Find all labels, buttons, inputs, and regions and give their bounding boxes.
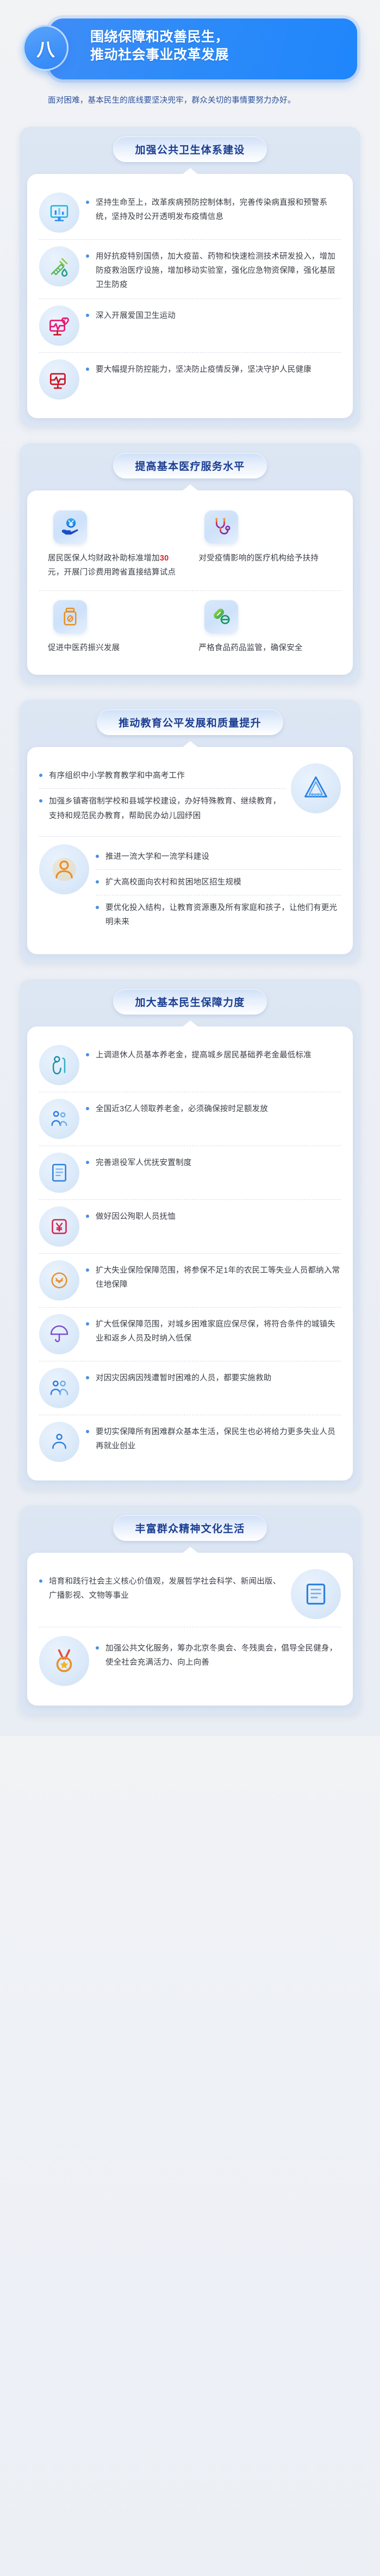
text-before: 要切实保障所有困难群众基本生活，保民生也必将给力更多失业人员再就业创业 bbox=[96, 1428, 335, 1451]
grid-cell-text: 促进中医药振兴发展 bbox=[46, 641, 184, 655]
list-item-text: 上调退休人员基本养老金，提高城乡居民基础养老金最低标准 bbox=[96, 1048, 341, 1062]
list-item-text: 加强乡镇寄宿制学校和县城学校建设，办好特殊教育、继续教育，支持和规范民办教育，帮… bbox=[49, 794, 285, 823]
list-item-body: 上调退休人员基本养老金，提高城乡居民基础养老金最低标准 bbox=[86, 1045, 341, 1062]
section-education: 推动教育公平发展和质量提升 有序组织中小学教育教学和中高考工作 加强乡镇寄宿制学… bbox=[20, 700, 360, 963]
yuan-shield-icon bbox=[39, 1206, 79, 1247]
infographic-page: 八 围绕保障和改善民生， 推动社会事业改革发展 面对困难，基本民生的底线要坚决兜… bbox=[0, 0, 380, 1736]
grid-cell: 严格食品药品监管，确保安全 bbox=[190, 592, 341, 663]
list-item: 有序组织中小学教育教学和中高考工作 bbox=[39, 763, 285, 788]
section-card: 有序组织中小学教育教学和中高考工作 加强乡镇寄宿制学校和县城学校建设，办好特殊教… bbox=[27, 747, 353, 954]
health-heartbeat-icon bbox=[39, 306, 79, 346]
student-person-icon bbox=[39, 844, 89, 894]
syringe-vaccine-icon bbox=[39, 246, 79, 287]
grid-cell: 对受疫情影响的医疗机构给予扶持 bbox=[190, 502, 341, 587]
list-item: 对因灾因病因残遭暂时困难的人员，都要实施救助 bbox=[39, 1361, 341, 1415]
bullet-dot bbox=[86, 254, 89, 258]
list-item: 要大幅提升防控能力，坚决防止疫情反弹，坚决守护人民健康 bbox=[39, 352, 341, 406]
list-item-text: 完善退役军人优抚安置制度 bbox=[96, 1156, 341, 1170]
grid-cell: 居民医保人均财政补助标准增加30元，开展门诊费用跨省直接结算试点 bbox=[39, 502, 190, 587]
low-income-icon bbox=[39, 1260, 79, 1301]
bullet-dot bbox=[86, 201, 89, 204]
list-item-body: 做好因公殉职人员抚恤 bbox=[86, 1206, 341, 1224]
bullet-dot bbox=[39, 799, 42, 802]
list-item-body: 扩大失业保险保障范围，将参保不足1年的农民工等失业人员都纳入常住地保障 bbox=[86, 1260, 341, 1292]
list-item-text: 对因灾因病因残遭暂时困难的人员，都要实施救助 bbox=[96, 1371, 341, 1385]
bullet-dot bbox=[96, 855, 99, 858]
elderly-care-icon bbox=[39, 1045, 79, 1085]
text-before: 做好因公殉职人员抚恤 bbox=[96, 1212, 176, 1221]
culture-group-2-bullets: 加强公共文化服务，筹办北京冬奥会、冬残奥会，倡导全民健身，使全社会充满活力、向上… bbox=[96, 1636, 341, 1675]
text-before: 对受疫情影响的医疗机构给予扶持 bbox=[199, 554, 319, 563]
pension-people-icon bbox=[39, 1099, 79, 1139]
list-item-text: 加强公共文化服务，筹办北京冬奥会、冬残奥会，倡导全民健身，使全社会充满活力、向上… bbox=[105, 1641, 341, 1670]
list-item-text: 要大幅提升防控能力，坚决防止疫情反弹，坚决守护人民健康 bbox=[96, 363, 341, 377]
text-before: 严格食品药品监管，确保安全 bbox=[199, 644, 303, 652]
list-item-body: 扩大低保保障范围，对城乡困难家庭应保尽保，将符合条件的城镇失业和返乡人员及时纳入… bbox=[86, 1314, 341, 1346]
bullet-dot bbox=[86, 1322, 89, 1326]
bullet-dot bbox=[86, 1376, 89, 1379]
list-item-text: 做好因公殉职人员抚恤 bbox=[96, 1210, 341, 1224]
list-item-text: 要优化投入结构，让教育资源惠及所有家庭和孩子，让他们有更光明未来 bbox=[105, 901, 341, 929]
stethoscope-icon bbox=[204, 510, 238, 544]
list-item: 培育和践行社会主义核心价值观，发展哲学社会科学、新闻出版、广播影视、文物等事业 bbox=[39, 1569, 285, 1608]
grid-cell: 促进中医药振兴发展 bbox=[39, 592, 190, 663]
bullet-dot bbox=[96, 906, 99, 909]
grid-cell-text: 对受疫情影响的医疗机构给予扶持 bbox=[197, 551, 335, 565]
text-before: 完善退役军人优抚安置制度 bbox=[96, 1159, 191, 1167]
medicine-bottle-herb-icon bbox=[53, 600, 87, 633]
list-item-text: 深入开展爱国卫生运动 bbox=[96, 309, 341, 323]
section-card: 坚持生命至上，改革疾病预防控制体制，完善传染病直报和预警系统，坚持及时公开透明发… bbox=[27, 174, 353, 418]
book-document-icon bbox=[291, 1569, 341, 1619]
list-item: 扩大低保保障范围，对城乡困难家庭应保尽保，将符合条件的城镇失业和返乡人员及时纳入… bbox=[39, 1307, 341, 1361]
intro-paragraph: 面对困难，基本民生的底线要坚决兜牢，群众关切的事情要努力办好。 bbox=[0, 79, 380, 110]
education-group-1: 有序组织中小学教育教学和中高考工作 加强乡镇寄宿制学校和县城学校建设，办好特殊教… bbox=[39, 759, 341, 836]
bullet-dot bbox=[86, 314, 89, 317]
list-item-text: 全国近3亿人领取养老金，必须确保按时足额发放 bbox=[96, 1102, 341, 1116]
culture-group-1-bullets: 培育和践行社会主义核心价值观，发展哲学社会科学、新闻出版、广播影视、文物等事业 bbox=[39, 1569, 285, 1608]
list-item: 扩大高校面向农村和贫困地区招生规模 bbox=[96, 869, 341, 895]
section-card: 上调退休人员基本养老金，提高城乡居民基础养老金最低标准 全国近3亿人领取养老金，… bbox=[27, 1026, 353, 1480]
section-culture: 丰富群众精神文化生活 培育和践行社会主义核心价值观，发展哲学社会科学、新闻出版、… bbox=[20, 1505, 360, 1714]
header-banner: 八 围绕保障和改善民生， 推动社会事业改革发展 bbox=[49, 18, 357, 79]
family-care-icon bbox=[39, 1368, 79, 1408]
text-before: 扩大失业保险保障范围，将参保不足1年的农民工等失业人员都纳入常住地保障 bbox=[96, 1266, 340, 1289]
section-title: 加强公共卫生体系建设 bbox=[113, 136, 266, 162]
list-item: 加强乡镇寄宿制学校和县城学校建设，办好特殊教育、继续教育，支持和规范民办教育，帮… bbox=[39, 788, 285, 828]
bullet-dot bbox=[86, 1053, 89, 1056]
list-item-body: 深入开展爱国卫生运动 bbox=[86, 306, 341, 323]
section-number-badge: 八 bbox=[23, 25, 68, 71]
list-item-text: 培育和践行社会主义核心价值观，发展哲学社会科学、新闻出版、广播影视、文物等事业 bbox=[49, 1575, 285, 1603]
list-item: 坚持生命至上，改革疾病预防控制体制，完善传染病直报和预警系统，坚持及时公开透明发… bbox=[39, 186, 341, 239]
section-title: 丰富群众精神文化生活 bbox=[113, 1515, 266, 1541]
section-card: 培育和践行社会主义核心价值观，发展哲学社会科学、新闻出版、广播影视、文物等事业 bbox=[27, 1553, 353, 1706]
text-before: 促进中医药振兴发展 bbox=[48, 644, 120, 652]
section-basic-medical: 提高基本医疗服务水平 bbox=[20, 443, 360, 683]
bullet-dot bbox=[86, 1107, 89, 1110]
monitor-chart-icon bbox=[39, 192, 79, 233]
bullet-dot bbox=[96, 1646, 99, 1650]
list-item: 用好抗疫特别国债，加大疫苗、药物和快速检测技术研发投入，增加防疫救治医疗设施，增… bbox=[39, 239, 341, 298]
header: 八 围绕保障和改善民生， 推动社会事业改革发展 bbox=[0, 0, 380, 79]
list-item: 要切实保障所有困难群众基本生活，保民生也必将给力更多失业人员再就业创业 bbox=[39, 1415, 341, 1469]
list-item: 完善退役军人优抚安置制度 bbox=[39, 1146, 341, 1199]
bullet-dot bbox=[86, 1215, 89, 1218]
list-item-text: 坚持生命至上，改革疾病预防控制体制，完善传染病直报和预警系统，坚持及时公开透明发… bbox=[96, 196, 341, 224]
text-before: 全国近3亿人领取养老金，必须确保按时足额发放 bbox=[96, 1105, 268, 1113]
culture-group-2: 加强公共文化服务，筹办北京冬奥会、冬残奥会，倡导全民健身，使全社会充满活力、向上… bbox=[39, 1627, 341, 1694]
section-livelihood-security: 加大基本民生保障力度 上调退休人员基本养老金，提高城乡居民基础养老金最低标准 bbox=[20, 979, 360, 1489]
shield-protect-icon bbox=[39, 359, 79, 400]
grid-container: 居民医保人均财政补助标准增加30元，开展门诊费用跨省直接结算试点 bbox=[39, 502, 341, 663]
grid-cell-text: 居民医保人均财政补助标准增加30元，开展门诊费用跨省直接结算试点 bbox=[46, 551, 184, 580]
list-item-body: 用好抗疫特别国债，加大疫苗、药物和快速检测技术研发投入，增加防疫救治医疗设施，增… bbox=[86, 246, 341, 292]
text-before: 扩大低保保障范围，对城乡困难家庭应保尽保，将符合条件的城镇失业和返乡人员及时纳入… bbox=[96, 1320, 335, 1343]
list-item-text: 用好抗疫特别国债，加大疫苗、药物和快速检测技术研发投入，增加防疫救治医疗设施，增… bbox=[96, 250, 341, 292]
bullet-dot bbox=[39, 774, 42, 777]
list-item: 推进一流大学和一流学科建设 bbox=[96, 844, 341, 869]
page-title-line1: 围绕保障和改善民生， bbox=[90, 28, 344, 46]
list-item-text: 要切实保障所有困难群众基本生活，保民生也必将给力更多失业人员再就业创业 bbox=[96, 1425, 341, 1453]
list-item: 深入开展爱国卫生运动 bbox=[39, 298, 341, 352]
list-item-text: 扩大高校面向农村和贫困地区招生规模 bbox=[105, 875, 341, 889]
text-before: 居民医保人均财政补助标准增加 bbox=[48, 554, 160, 563]
capsule-pill-icon bbox=[204, 600, 238, 633]
list-item-body: 要切实保障所有困难群众基本生活，保民生也必将给力更多失业人员再就业创业 bbox=[86, 1422, 341, 1453]
bullet-dot bbox=[86, 1161, 89, 1164]
text-after: 元，开展门诊费用跨省直接结算试点 bbox=[48, 568, 176, 577]
ruler-compass-icon bbox=[291, 763, 341, 813]
document-system-icon bbox=[39, 1153, 79, 1193]
bullet-dot bbox=[86, 1268, 89, 1272]
list-item: 扩大失业保险保障范围，将参保不足1年的农民工等失业人员都纳入常住地保障 bbox=[39, 1253, 341, 1307]
section-public-health: 加强公共卫生体系建设 坚持生命至上，改革疾病预防控制体制，完善传染病直报和预警 bbox=[20, 127, 360, 427]
list-item-body: 全国近3亿人领取养老金，必须确保按时足额发放 bbox=[86, 1099, 341, 1116]
bullet-dot bbox=[39, 1579, 42, 1583]
bullet-dot bbox=[86, 1430, 89, 1433]
grid-cell-text: 严格食品药品监管，确保安全 bbox=[197, 641, 335, 655]
list-item-body: 坚持生命至上，改革疾病预防控制体制，完善传染病直报和预警系统，坚持及时公开透明发… bbox=[86, 192, 341, 224]
list-item: 做好因公殉职人员抚恤 bbox=[39, 1199, 341, 1253]
list-item-body: 要大幅提升防控能力，坚决防止疫情反弹，坚决守护人民健康 bbox=[86, 359, 341, 377]
culture-group-1: 培育和践行社会主义核心价值观，发展哲学社会科学、新闻出版、广播影视、文物等事业 bbox=[39, 1565, 341, 1627]
hand-yuan-coin-icon bbox=[53, 510, 87, 544]
section-card: 居民医保人均财政补助标准增加30元，开展门诊费用跨省直接结算试点 bbox=[27, 490, 353, 675]
list-item-body: 对因灾因病因残遭暂时困难的人员，都要实施救助 bbox=[86, 1368, 341, 1385]
education-group-2-bullets: 推进一流大学和一流学科建设 扩大高校面向农村和贫困地区招生规模 要优化投入结构，… bbox=[96, 844, 341, 935]
section-title: 提高基本医疗服务水平 bbox=[113, 453, 266, 478]
education-group-2: 推进一流大学和一流学科建设 扩大高校面向农村和贫困地区招生规模 要优化投入结构，… bbox=[39, 836, 341, 942]
medal-sport-icon bbox=[39, 1636, 89, 1686]
text-before: 上调退休人员基本养老金，提高城乡居民基础养老金最低标准 bbox=[96, 1051, 312, 1060]
handshake-help-icon bbox=[39, 1422, 79, 1462]
bullet-dot bbox=[96, 880, 99, 883]
list-item-body: 完善退役军人优抚安置制度 bbox=[86, 1153, 341, 1170]
section-title: 推动教育公平发展和质量提升 bbox=[97, 710, 283, 735]
list-item: 全国近3亿人领取养老金，必须确保按时足额发放 bbox=[39, 1092, 341, 1146]
list-item-text: 扩大低保保障范围，对城乡困难家庭应保尽保，将符合条件的城镇失业和返乡人员及时纳入… bbox=[96, 1317, 341, 1346]
highlight-value: 30 bbox=[160, 554, 169, 563]
list-item: 加强公共文化服务，筹办北京冬奥会、冬残奥会，倡导全民健身，使全社会充满活力、向上… bbox=[96, 1636, 341, 1675]
list-item: 上调退休人员基本养老金，提高城乡居民基础养老金最低标准 bbox=[39, 1038, 341, 1092]
list-item: 要优化投入结构，让教育资源惠及所有家庭和孩子，让他们有更光明未来 bbox=[96, 895, 341, 935]
education-group-1-bullets: 有序组织中小学教育教学和中高考工作 加强乡镇寄宿制学校和县城学校建设，办好特殊教… bbox=[39, 763, 285, 828]
umbrella-protect-icon bbox=[39, 1314, 79, 1354]
page-title: 围绕保障和改善民生， 推动社会事业改革发展 bbox=[90, 28, 344, 64]
bullet-dot bbox=[86, 368, 89, 371]
section-title: 加大基本民生保障力度 bbox=[113, 989, 266, 1015]
list-item-text: 推进一流大学和一流学科建设 bbox=[105, 850, 341, 864]
divider bbox=[39, 590, 341, 591]
text-before: 对因灾因病因残遭暂时困难的人员，都要实施救助 bbox=[96, 1374, 271, 1383]
list-item-text: 扩大失业保险保障范围，将参保不足1年的农民工等失业人员都纳入常住地保障 bbox=[96, 1264, 341, 1292]
list-item-text: 有序组织中小学教育教学和中高考工作 bbox=[49, 769, 285, 783]
page-title-line2: 推动社会事业改革发展 bbox=[90, 46, 344, 64]
